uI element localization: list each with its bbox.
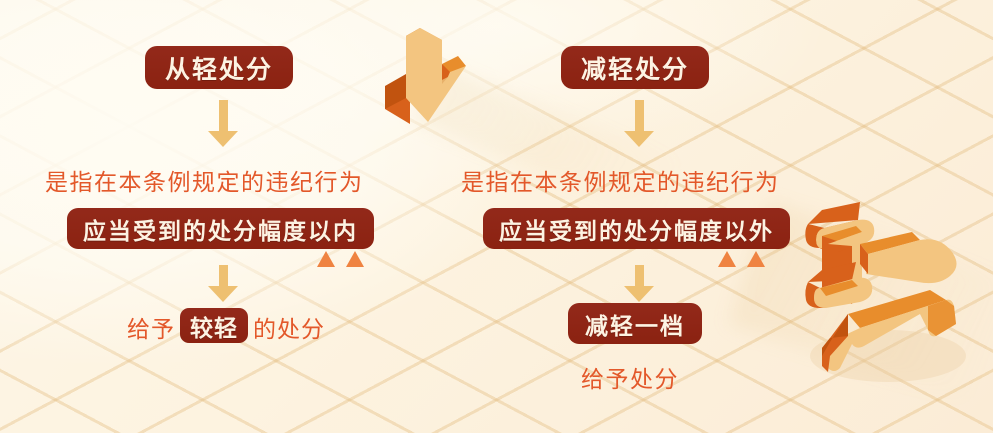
result-badge-jian-qing[interactable]: 减轻一档: [568, 303, 702, 344]
result-caption-jian-qing: 给予处分: [581, 360, 679, 394]
triangle-marker-icon: [317, 251, 335, 267]
flow-arrow-icon-4: [624, 265, 654, 302]
big-down-arrow-icon: [370, 14, 480, 134]
column-scope-badge-jian-qing[interactable]: 应当受到的处分幅度以外: [483, 208, 790, 249]
flow-arrow-icon-2: [208, 265, 238, 302]
result-prefix-cong-qing: 给予: [127, 310, 175, 344]
gavel-icon: [800, 196, 985, 386]
column-title-badge-cong-qing[interactable]: 从轻处分: [145, 46, 293, 89]
column-description-jian-qing: 是指在本条例规定的违纪行为: [461, 163, 780, 197]
infographic-canvas: 从轻处分 是指在本条例规定的违纪行为 应当受到的处分幅度以内 给予 较轻 的处分…: [0, 0, 993, 433]
triangle-marker-icon: [718, 251, 736, 267]
column-jian-qing: 减轻处分 是指在本条例规定的违纪行为 应当受到的处分幅度以外 减轻一档 给予处分: [420, 0, 850, 433]
result-line-cong-qing: 给予 较轻 的处分: [127, 309, 325, 344]
result-highlight-badge-cong-qing[interactable]: 较轻: [180, 308, 248, 343]
result-suffix-cong-qing: 的处分: [253, 310, 325, 344]
column-scope-badge-cong-qing[interactable]: 应当受到的处分幅度以内: [67, 208, 374, 249]
emphasis-markers-jian-qing: [718, 251, 765, 267]
column-title-badge-jian-qing[interactable]: 减轻处分: [561, 46, 709, 89]
emphasis-markers-cong-qing: [317, 251, 364, 267]
flow-arrow-icon-3: [624, 100, 654, 147]
column-description-cong-qing: 是指在本条例规定的违纪行为: [45, 163, 364, 197]
triangle-marker-icon: [346, 251, 364, 267]
triangle-marker-icon: [747, 251, 765, 267]
flow-arrow-icon-1: [208, 100, 238, 147]
